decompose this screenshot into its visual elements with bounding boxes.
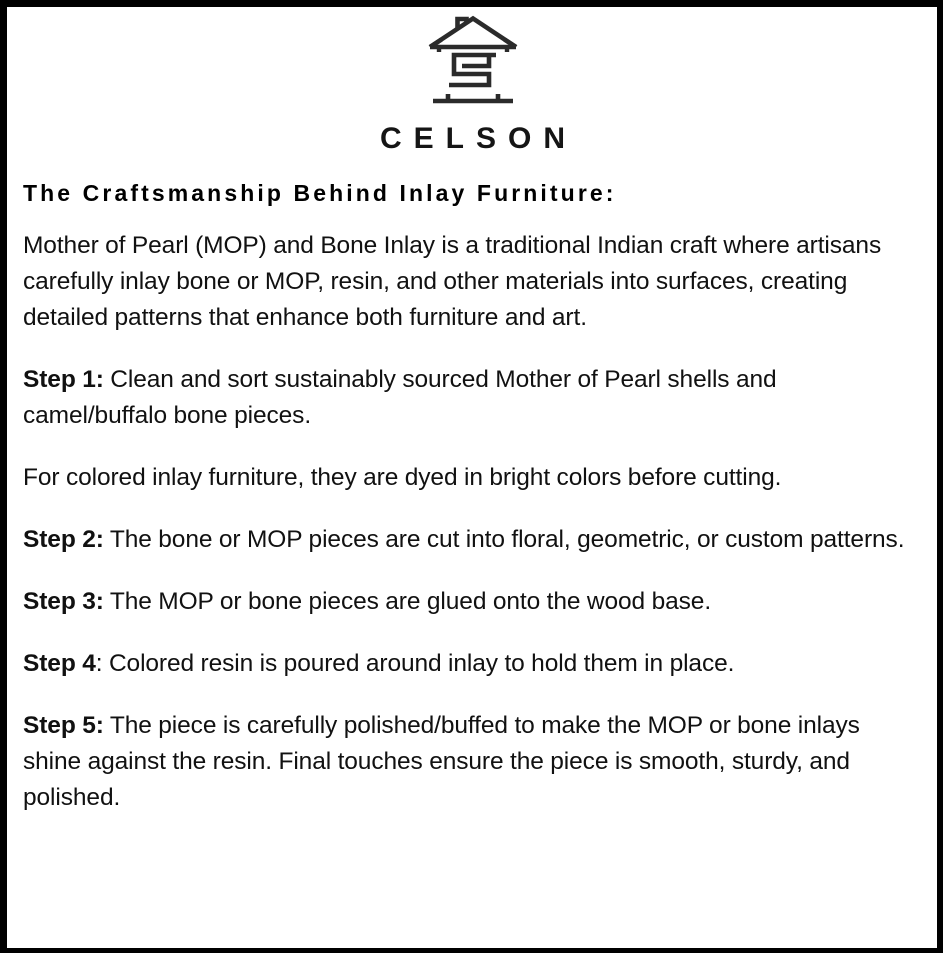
page-title: The Craftsmanship Behind Inlay Furniture… xyxy=(23,180,929,208)
intro-paragraph: Mother of Pearl (MOP) and Bone Inlay is … xyxy=(23,228,921,336)
step-paragraph-5: Step 4: Colored resin is poured around i… xyxy=(23,646,921,682)
step-text-5: : Colored resin is poured around inlay t… xyxy=(96,650,735,677)
step-paragraph-3: Step 2: The bone or MOP pieces are cut i… xyxy=(23,522,921,558)
article-body: Mother of Pearl (MOP) and Bone Inlay is … xyxy=(23,208,929,816)
step-label-6: Step 5: xyxy=(23,712,104,739)
step-label-5: Step 4 xyxy=(23,650,96,677)
step-paragraph-2: For colored inlay furniture, they are dy… xyxy=(23,460,921,496)
brand-block: CELSON xyxy=(16,7,929,154)
step-paragraph-6: Step 5: The piece is carefully polished/… xyxy=(23,708,921,816)
poster-card: CELSON The Craftsmanship Behind Inlay Fu… xyxy=(0,0,943,953)
step-paragraph-4: Step 3: The MOP or bone pieces are glued… xyxy=(23,584,921,620)
step-paragraph-1: Step 1: Clean and sort sustainably sourc… xyxy=(23,362,921,434)
house-with-s-monogram-icon xyxy=(427,15,519,112)
step-text-4: The MOP or bone pieces are glued onto th… xyxy=(104,588,711,615)
poster-inner: CELSON The Craftsmanship Behind Inlay Fu… xyxy=(7,7,937,948)
step-label-4: Step 3: xyxy=(23,588,104,615)
step-text-6: The piece is carefully polished/buffed t… xyxy=(23,712,860,811)
brand-wordmark: CELSON xyxy=(16,124,929,154)
step-text-2: For colored inlay furniture, they are dy… xyxy=(23,464,781,491)
step-text-3: The bone or MOP pieces are cut into flor… xyxy=(104,526,905,553)
step-text-1: Clean and sort sustainably sourced Mothe… xyxy=(23,366,777,429)
step-label-1: Step 1: xyxy=(23,366,104,393)
step-label-3: Step 2: xyxy=(23,526,104,553)
